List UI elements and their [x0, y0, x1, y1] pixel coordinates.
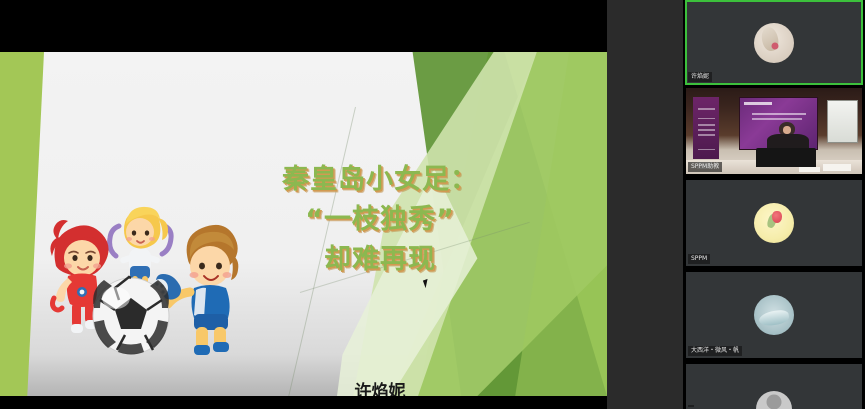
letterbox-top	[0, 0, 683, 52]
screen-share-stage[interactable]: 秦皇岛小女足： “一枝独秀” 却难再现 许焰妮 2021.12	[0, 0, 683, 409]
slide-title: 秦皇岛小女足： “一枝独秀” 却难再现	[250, 160, 510, 280]
slide-title-line-1: 秦皇岛小女足：	[250, 160, 510, 200]
participant-filmstrip[interactable]: 许焰妮	[683, 0, 865, 409]
meeting-window: 秦皇岛小女足： “一枝独秀” 却难再现 许焰妮 2021.12 许焰妮	[0, 0, 865, 409]
participant-name-4: 大西洋・微风・帆	[688, 346, 742, 356]
participant-tile-1[interactable]: 许焰妮	[686, 1, 862, 84]
stage-side-panel	[607, 0, 683, 409]
participant-tile-5[interactable]	[686, 364, 862, 409]
default-person-avatar-icon	[756, 391, 792, 409]
participant-name-3: SPPM	[688, 254, 710, 264]
participant-name-2: SPPM助教	[688, 162, 722, 172]
slide-author: 许焰妮	[250, 377, 510, 396]
ocean-wave-avatar-icon	[754, 295, 794, 335]
slide-title-line-3: 却难再现	[250, 240, 510, 280]
flower-painting-avatar-icon	[754, 23, 794, 63]
purple-banner	[693, 97, 719, 159]
soccer-children-clipart	[38, 196, 256, 381]
participant-name-5	[688, 405, 694, 407]
whiteboard	[827, 100, 859, 143]
participant-tile-3[interactable]: SPPM	[686, 180, 862, 266]
participant-tile-4[interactable]: 大西洋・微风・帆	[686, 272, 862, 358]
participant-tile-2[interactable]: SPPM助教	[686, 88, 862, 174]
presentation-slide: 秦皇岛小女足： “一枝独秀” 却难再现 许焰妮 2021.12	[0, 52, 607, 396]
participant-name-1: 许焰妮	[688, 72, 712, 82]
letterbox-bottom	[0, 396, 683, 409]
slide-title-line-2: “一枝独秀”	[250, 200, 510, 240]
laptop	[756, 148, 816, 167]
yellow-flower-avatar-icon	[754, 203, 794, 243]
